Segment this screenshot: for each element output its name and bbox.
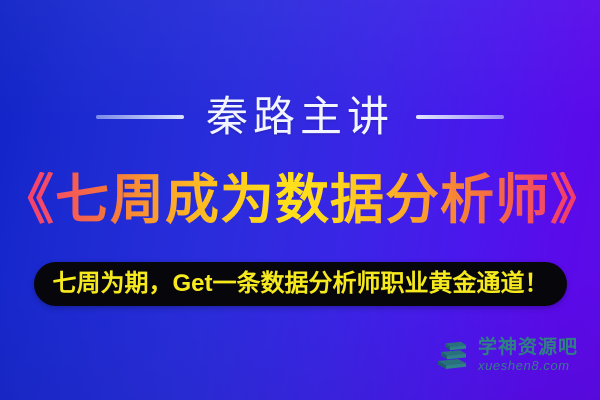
presenter-name: 秦路主讲 <box>206 96 394 138</box>
book-stack-icon <box>436 339 470 371</box>
headline-block: 《七周成为数据分析师》 <box>0 172 600 229</box>
left-rule-decoration <box>96 115 184 119</box>
right-rule-decoration <box>416 115 504 119</box>
poster-canvas: 秦路主讲 《七周成为数据分析师》 七周为期，Get一条数据分析师职业黄金通道！ <box>0 0 600 400</box>
watermark-text: 学神资源吧 xueshen8.com <box>478 338 578 372</box>
subtitle-text: 七周为期，Get一条数据分析师职业黄金通道！ <box>52 272 548 296</box>
watermark-logo: 学神资源吧 xueshen8.com <box>436 338 578 372</box>
watermark-domain: xueshen8.com <box>478 359 578 372</box>
presenter-row: 秦路主讲 <box>0 88 600 146</box>
course-title: 《七周成为数据分析师》 <box>0 172 600 229</box>
watermark-site-name: 学神资源吧 <box>478 338 578 357</box>
subtitle-pill: 七周为期，Get一条数据分析师职业黄金通道！ <box>34 262 567 306</box>
